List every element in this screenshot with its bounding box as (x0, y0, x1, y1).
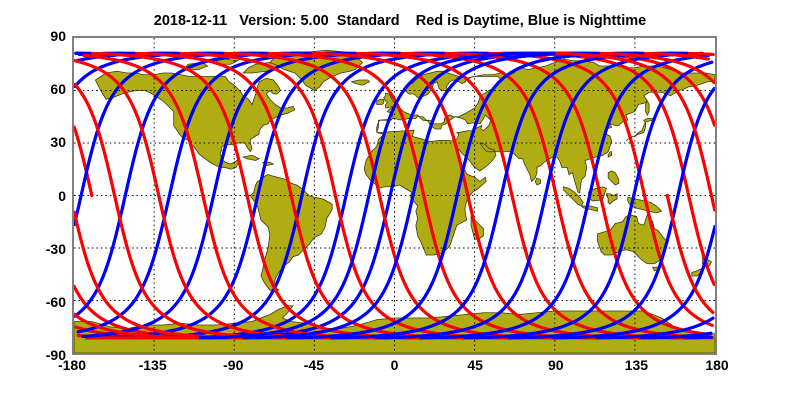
y-tick-label: 90 (0, 28, 66, 44)
y-tick-label: -30 (0, 241, 66, 257)
x-tick-label: -135 (139, 357, 167, 373)
land-polygon (535, 178, 540, 185)
x-tick-label: -45 (304, 357, 324, 373)
x-tick-label: 135 (625, 357, 648, 373)
page-title: 2018-12-11 Version: 5.00 Standard Red is… (0, 13, 800, 29)
x-tick-label: 180 (705, 357, 728, 373)
land-polygon (608, 152, 612, 157)
y-tick-label: -60 (0, 294, 66, 310)
map-canvas (74, 38, 715, 353)
y-tick-label: 30 (0, 134, 66, 150)
ground-track-figure: 2018-12-11 Version: 5.00 Standard Red is… (0, 0, 800, 400)
land-polygon (352, 80, 370, 85)
land-polygon (95, 71, 294, 169)
day-track-segment (687, 53, 713, 54)
x-tick-label: 0 (391, 357, 399, 373)
x-tick-label: -180 (58, 357, 86, 373)
y-tick-label: 0 (0, 188, 66, 204)
x-tick-label: 45 (467, 357, 483, 373)
land-polygon (377, 99, 384, 104)
land-polygon (243, 155, 259, 160)
y-tick-label: 60 (0, 81, 66, 97)
y-tick-label: -90 (0, 347, 66, 363)
plot-area (72, 36, 717, 355)
day-track-segment (711, 196, 714, 211)
land-polygon (646, 101, 650, 115)
land-polygon (581, 206, 597, 211)
x-tick-label: -90 (223, 357, 243, 373)
x-tick-label: 90 (548, 357, 564, 373)
land-polygon (608, 171, 619, 185)
